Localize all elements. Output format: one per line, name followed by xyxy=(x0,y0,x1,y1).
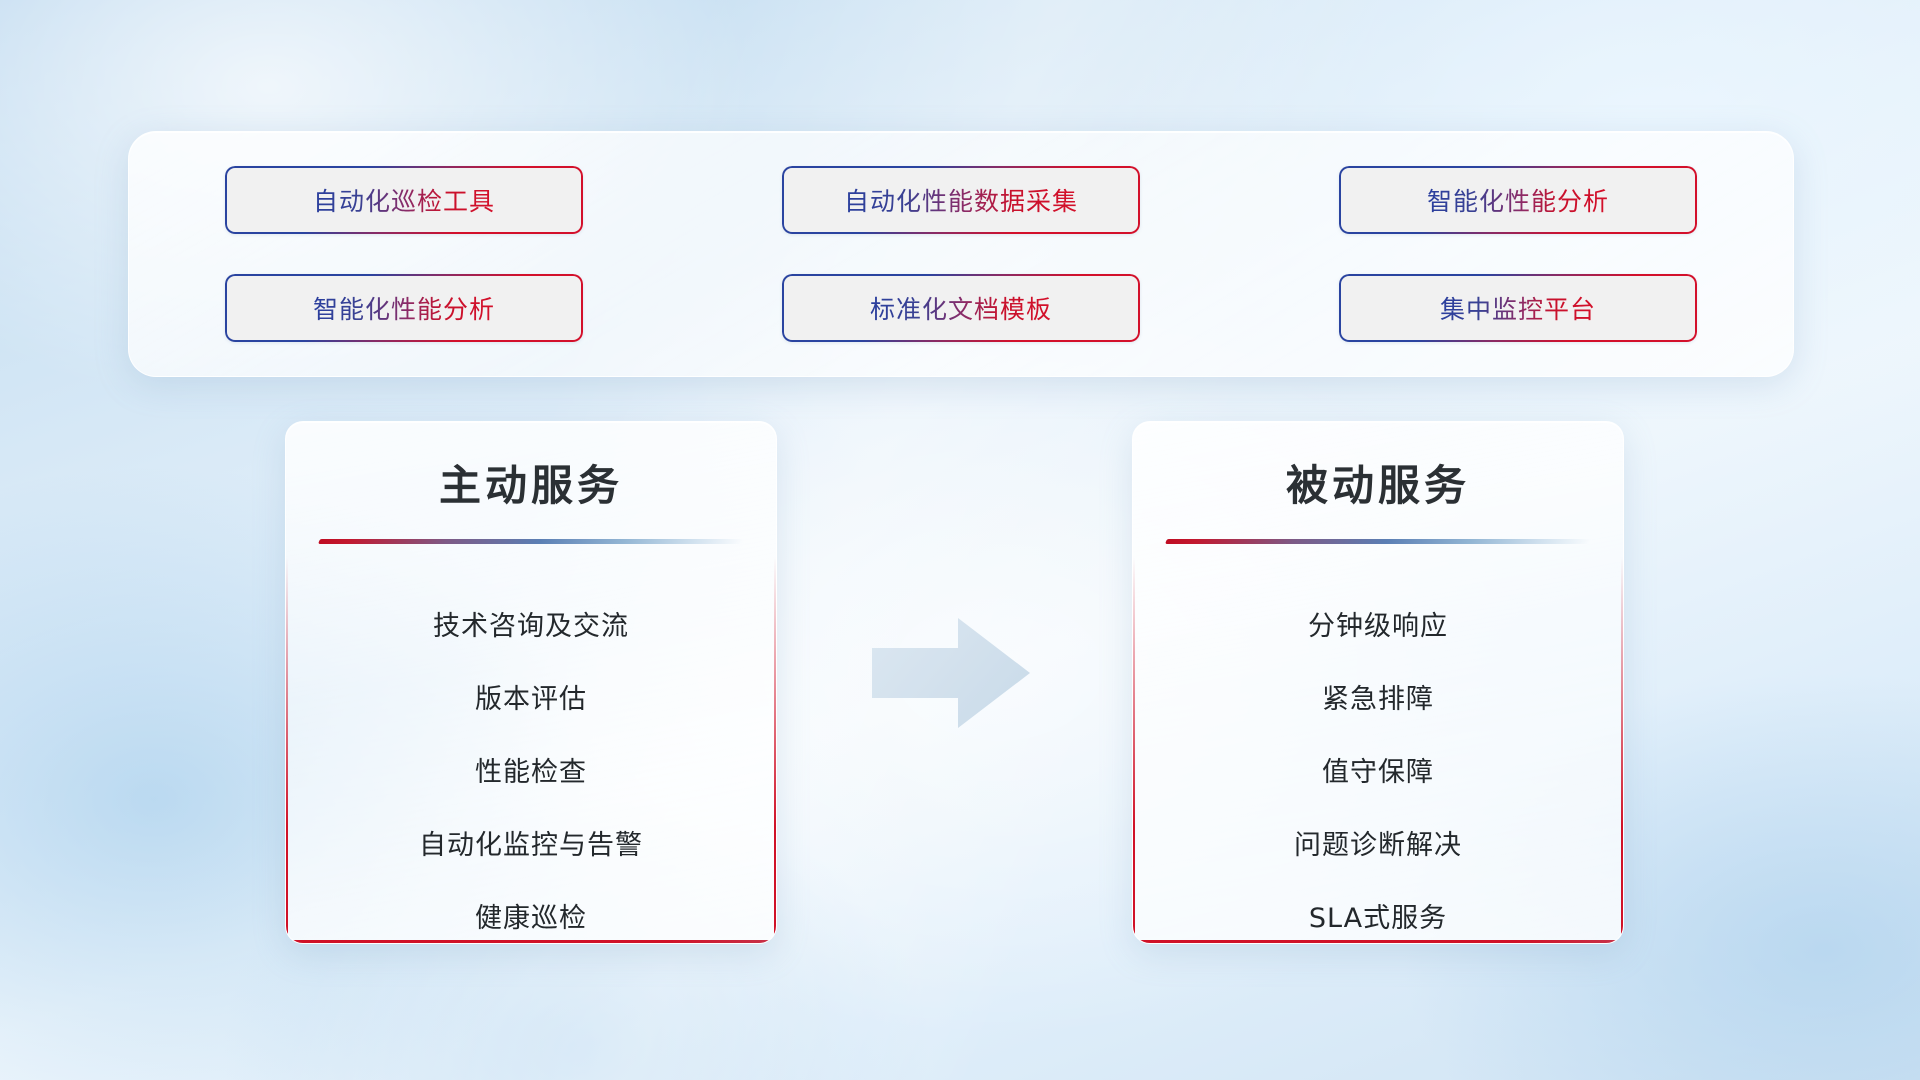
capability-pill-automated-inspection-tool[interactable]: 自动化巡检工具 xyxy=(225,166,583,234)
service-card-passive: 被动服务 分钟级响应 紧急排障 值守保障 问题诊断解决 SLA式服务 xyxy=(1132,421,1624,944)
service-list-item: 健康巡检 xyxy=(286,882,776,944)
service-list-item: SLA式服务 xyxy=(1133,882,1623,944)
service-list-item: 问题诊断解决 xyxy=(1133,809,1623,882)
capability-pill-centralized-monitoring-platform[interactable]: 集中监控平台 xyxy=(1339,274,1697,342)
service-list-item: 技术咨询及交流 xyxy=(286,590,776,663)
service-list-item: 值守保障 xyxy=(1133,736,1623,809)
card-left-edge-accent xyxy=(286,557,288,943)
capability-pill-intelligent-performance-analysis-top[interactable]: 智能化性能分析 xyxy=(1339,166,1697,234)
card-right-edge-accent xyxy=(1621,557,1623,943)
capability-pill-intelligent-performance-analysis-bottom[interactable]: 智能化性能分析 xyxy=(225,274,583,342)
capability-pill-label: 自动化性能数据采集 xyxy=(844,182,1078,218)
capability-pill-label: 集中监控平台 xyxy=(1440,290,1596,326)
service-list-item: 分钟级响应 xyxy=(1133,590,1623,663)
service-card-title: 被动服务 xyxy=(1133,452,1623,513)
service-item-list: 技术咨询及交流 版本评估 性能检查 自动化监控与告警 健康巡检 xyxy=(286,590,776,944)
title-underline-accent xyxy=(1165,539,1591,544)
service-card-title: 主动服务 xyxy=(286,452,776,513)
capability-pill-label: 智能化性能分析 xyxy=(1427,182,1609,218)
card-left-edge-accent xyxy=(1133,557,1135,943)
service-list-item: 版本评估 xyxy=(286,663,776,736)
capability-pill-label: 智能化性能分析 xyxy=(313,290,495,326)
service-list-item: 性能检查 xyxy=(286,736,776,809)
service-item-list: 分钟级响应 紧急排障 值守保障 问题诊断解决 SLA式服务 xyxy=(1133,590,1623,944)
capability-pill-row-1: 自动化巡检工具 自动化性能数据采集 智能化性能分析 xyxy=(225,166,1697,234)
service-list-item: 紧急排障 xyxy=(1133,663,1623,736)
capability-pill-standardized-document-template[interactable]: 标准化文档模板 xyxy=(782,274,1140,342)
capability-pills-panel: 自动化巡检工具 自动化性能数据采集 智能化性能分析 智能化性能分析 标准化文档模… xyxy=(128,131,1794,377)
capability-pill-label: 标准化文档模板 xyxy=(870,290,1052,326)
service-card-active: 主动服务 技术咨询及交流 版本评估 性能检查 自动化监控与告警 健康巡检 xyxy=(285,421,777,944)
right-arrow-icon xyxy=(872,618,1030,728)
service-list-item: 自动化监控与告警 xyxy=(286,809,776,882)
capability-pill-label: 自动化巡检工具 xyxy=(313,182,495,218)
card-right-edge-accent xyxy=(774,557,776,943)
capability-pill-row-2: 智能化性能分析 标准化文档模板 集中监控平台 xyxy=(225,274,1697,342)
capability-pill-automated-performance-data-collection[interactable]: 自动化性能数据采集 xyxy=(782,166,1140,234)
title-underline-accent xyxy=(318,539,744,544)
